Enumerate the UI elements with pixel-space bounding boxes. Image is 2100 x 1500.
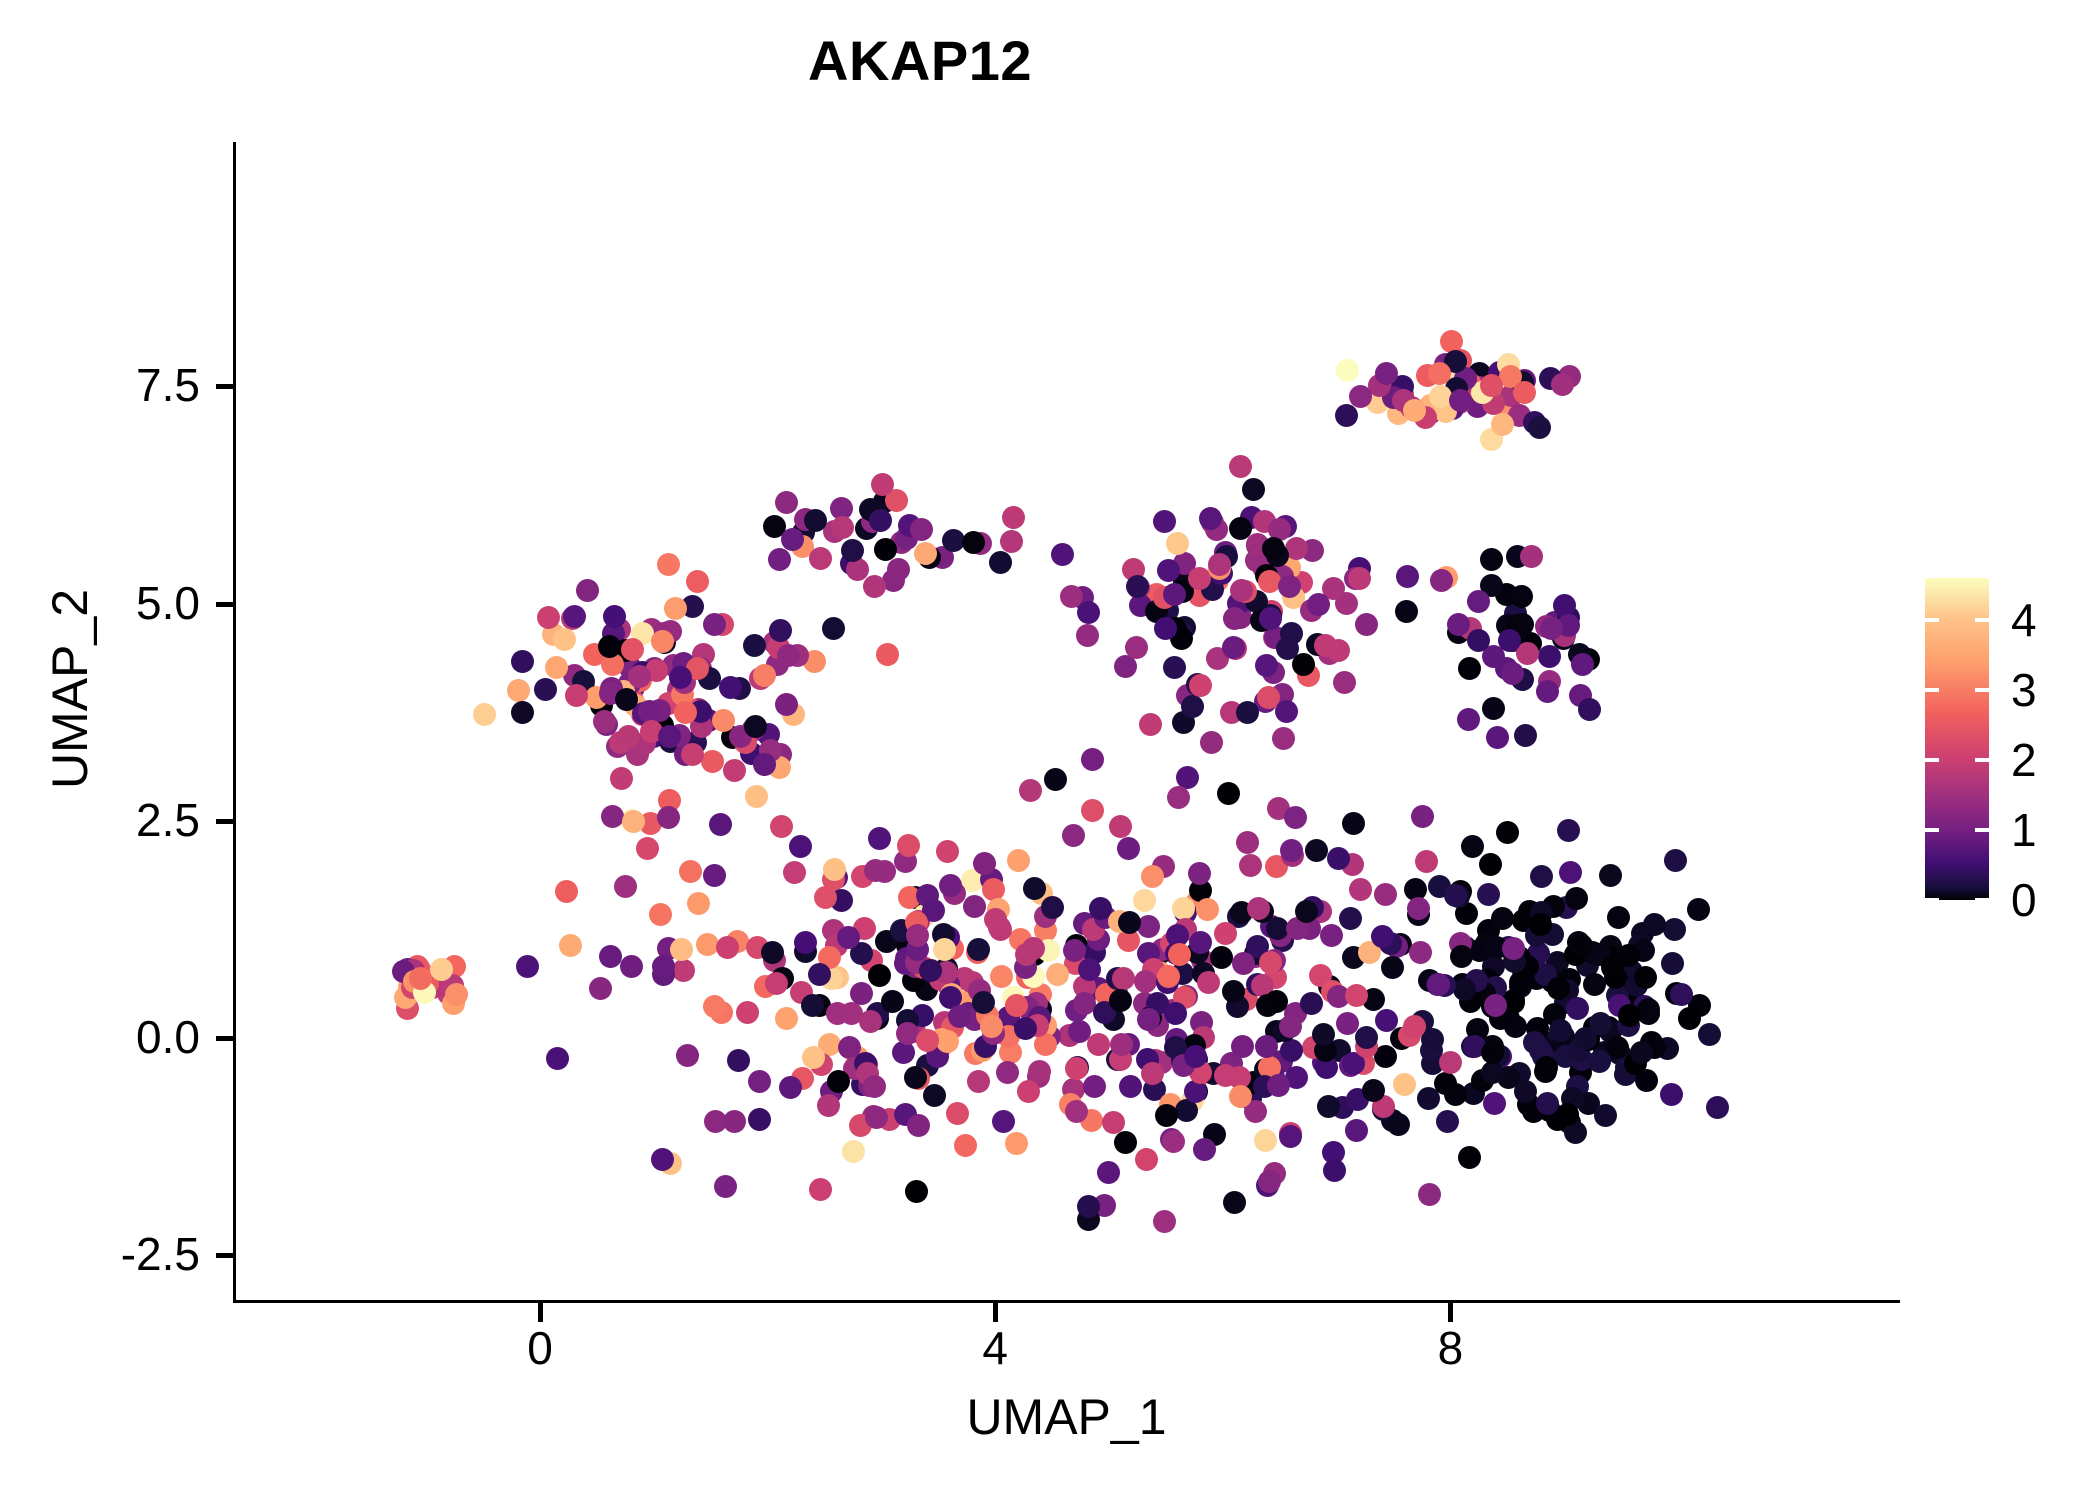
scatter-point [923,1084,946,1107]
scatter-point [1242,478,1265,501]
scatter-point [1687,898,1710,921]
scatter-point [1342,812,1365,835]
scatter-point [1339,907,1362,930]
scatter-point [1181,695,1204,718]
scatter-point [1417,1087,1440,1110]
scatter-point [1236,831,1259,854]
scatter-point [723,1110,746,1133]
scatter-point [1393,1073,1416,1096]
x-tick-label: 4 [935,1325,1055,1371]
scatter-point [1200,731,1223,754]
scatter-point [589,977,612,1000]
scatter-point [1439,1051,1462,1074]
scatter-point [876,643,899,666]
scatter-point [809,547,832,570]
scatter-point [1135,1148,1158,1171]
scatter-point [906,924,929,947]
scatter-point [1481,1041,1504,1064]
scatter-point [1063,939,1086,962]
scatter-point [1502,937,1525,960]
scatter-point [1538,645,1561,668]
scatter-point [1051,543,1074,566]
page-title: AKAP12 [0,28,1840,93]
scatter-point [1530,865,1553,888]
scatter-point [1060,585,1083,608]
scatter-point [1210,946,1233,969]
scatter-point [1453,978,1476,1001]
scatter-point [1125,636,1148,659]
scatter-point [1196,898,1219,921]
scatter-point [1167,786,1190,809]
scatter-point [1630,1041,1653,1064]
scatter-point [636,837,659,860]
scatter-point [1154,617,1177,640]
scatter-point [1279,1125,1302,1148]
scatter-point [1491,413,1514,436]
scatter-point [1133,889,1156,912]
scatter-point [1520,545,1543,568]
scatter-point [887,558,910,581]
scatter-point [1594,1104,1617,1127]
scatter-point [962,531,985,554]
scatter-point [1381,956,1404,979]
scatter-point [1501,662,1524,685]
scatter-point [1486,726,1509,749]
scatter-point [610,767,633,790]
scatter-point [1259,607,1282,630]
scatter-point [1110,1033,1133,1056]
scatter-point [1583,973,1606,996]
scatter-point [1467,590,1490,613]
scatter-point [863,1075,886,1098]
colorbar-tick-mark [1925,828,1939,832]
scatter-point [1540,617,1563,640]
scatter-point [546,1047,569,1070]
scatter-point [555,880,578,903]
scatter-point [1371,925,1394,948]
y-tick-mark [216,819,233,824]
colorbar-tick-label: 0 [2011,877,2037,923]
scatter-point [1007,849,1030,872]
colorbar-tick-mark [1975,758,1989,762]
scatter-point [1083,1075,1106,1098]
scatter-point [1236,701,1259,724]
scatter-point [948,1005,971,1028]
scatter-point [842,1140,865,1163]
scatter-point [1450,945,1473,968]
scatter-point [1571,653,1594,676]
scatter-point [1578,698,1601,721]
scatter-point [936,1030,959,1053]
scatter-point [954,1134,977,1157]
scatter-point [1428,362,1451,385]
scatter-point [1222,980,1245,1003]
colorbar-tick-mark [1925,898,1939,902]
scatter-point [1415,850,1438,873]
scatter-point [1664,849,1687,872]
scatter-point [615,688,638,711]
scatter-point [973,852,996,875]
scatter-point [1553,594,1576,617]
y-tick-label: -2.5 [40,1231,200,1277]
scatter-point [1117,837,1140,860]
scatter-point [1706,1096,1729,1119]
scatter-point [1323,1159,1346,1182]
scatter-point [745,785,768,808]
scatter-point [1023,877,1046,900]
scatter-point [1498,629,1521,652]
scatter-point [669,666,692,689]
scatter-point [719,676,742,699]
scatter-point [1411,805,1434,828]
scatter-point [559,934,582,957]
scatter-point [664,597,687,620]
scatter-point [511,701,534,724]
x-tick-mark [1448,1303,1453,1322]
scatter-point [576,579,599,602]
scatter-point [1660,1083,1683,1106]
scatter-point [1223,1191,1246,1214]
scatter-point [765,972,788,995]
scatter-point [1556,1103,1579,1126]
scatter-point [703,995,726,1018]
scatter-point [1041,896,1064,919]
scatter-point [770,815,793,838]
scatter-point [1193,1138,1216,1161]
scatter-point [1678,1007,1701,1030]
y-axis-title: UMAP_2 [41,369,99,1009]
scatter-point [869,509,892,532]
scatter-point [1163,656,1186,679]
scatter-point [1229,517,1252,540]
scatter-point [863,575,886,598]
scatter-point [897,834,920,857]
scatter-point [864,859,887,882]
scatter-point [701,750,724,773]
scatter-point [1109,989,1132,1012]
scatter-point [1247,897,1270,920]
scatter-point [1188,862,1211,885]
scatter-point [1044,768,1067,791]
scatter-point [1348,567,1371,590]
y-tick-mark [216,384,233,389]
scatter-point [563,605,586,628]
scatter-point [1230,579,1253,602]
scatter-point [703,613,726,636]
scatter-point [603,605,626,628]
scatter-point [1028,1060,1051,1083]
scatter-point [1267,1074,1290,1097]
scatter-point [565,684,588,707]
scatter-point [1019,779,1042,802]
scatter-point [430,958,453,981]
scatter-point [553,628,576,651]
colorbar-tick-label: 4 [2011,597,2037,643]
scatter-point [1467,629,1490,652]
scatter-point [657,553,680,576]
colorbar-tick-mark [1925,688,1939,692]
y-tick-mark [216,602,233,607]
scatter-point [779,1076,802,1099]
colorbar-tick-mark [1925,758,1939,762]
scatter-point [714,1175,737,1198]
scatter-point [1457,708,1480,731]
scatter-point [1214,922,1237,945]
colorbar-tick-label: 3 [2011,667,2037,713]
scatter-point [831,516,854,539]
scatter-point [1300,992,1323,1015]
scatter-point [1514,724,1537,747]
scatter-point [769,619,792,642]
scatter-point [1015,943,1038,966]
scatter-point [1461,835,1484,858]
scatter-point [1670,983,1693,1006]
colorbar-tick-mark [1975,618,1989,622]
scatter-point [1114,655,1137,678]
colorbar-tick-mark [1975,898,1989,902]
scatter-point [1284,806,1307,829]
colorbar-tick-mark [1975,828,1989,832]
y-tick-label: 0.0 [40,1014,200,1060]
scatter-point [1491,907,1514,930]
scatter-point [703,864,726,887]
scatter-point [1327,847,1350,870]
scatter-point [783,861,806,884]
scatter-point [1436,1110,1459,1133]
scatter-point [1126,575,1149,598]
scatter-point [670,938,693,961]
scatter-point [1292,653,1315,676]
scatter-point [775,693,798,716]
scatter-point [802,1046,825,1069]
scatter-point [1134,970,1157,993]
scatter-point [794,931,817,954]
scatter-point [1661,952,1684,975]
scatter-point [907,1114,930,1137]
scatter-point [1162,1130,1185,1153]
scatter-point [1314,634,1337,657]
scatter-point [868,827,891,850]
scatter-point [939,874,962,897]
scatter-point [789,835,812,858]
scatter-point [826,1002,849,1025]
scatter-point [753,664,776,687]
scatter-point [933,938,956,961]
scatter-point [1164,1002,1187,1025]
scatter-point [1141,865,1164,888]
scatter-point [1280,1039,1303,1062]
colorbar-tick-label: 2 [2011,737,2037,783]
scatter-point [1014,1017,1037,1040]
scatter-point [1599,864,1622,887]
y-tick-mark [216,1036,233,1041]
scatter-point [989,551,1012,574]
scatter-point [1698,1023,1721,1046]
scatter-point [1065,1100,1088,1123]
scatter-points-layer [236,142,1900,1300]
scatter-point [1189,674,1212,697]
scatter-point [1102,1111,1125,1134]
scatter-point [614,875,637,898]
scatter-point [1078,958,1101,981]
scatter-point [727,1049,750,1072]
scatter-point [687,892,710,915]
scatter-point [1566,997,1589,1020]
scatter-point [1076,624,1099,647]
scatter-point [827,1070,850,1093]
scatter-point [709,813,732,836]
scatter-point [1189,931,1212,954]
scatter-point [1513,381,1536,404]
x-tick-label: 8 [1390,1325,1510,1371]
scatter-point [1089,897,1112,920]
scatter-point [1565,887,1588,910]
scatter-point [652,955,675,978]
scatter-point [1458,1146,1481,1169]
scatter-point [621,638,644,661]
scatter-point [1374,883,1397,906]
scatter-point [676,1044,699,1067]
scatter-point [473,703,496,726]
scatter-point [1355,613,1378,636]
scatter-point [1239,854,1262,877]
scatter-point [681,743,704,766]
scatter-point [534,678,557,701]
scatter-point [1375,1009,1398,1032]
scatter-point [1081,748,1104,771]
scatter-point [1258,1170,1281,1193]
scatter-point [1551,373,1574,396]
scatter-point [1077,601,1100,624]
scatter-point [823,858,846,881]
scatter-point [649,903,672,926]
scatter-point [674,701,697,724]
scatter-point [992,1110,1015,1133]
scatter-point [1139,713,1162,736]
x-tick-label: 0 [480,1325,600,1371]
scatter-point [850,982,873,1005]
scatter-point [1229,455,1252,478]
scatter-point [972,991,995,1014]
scatter-point [748,1070,771,1093]
scatter-point [1307,593,1330,616]
scatter-point [1118,911,1141,934]
scatter-point [809,1178,832,1201]
scatter-point [1109,815,1132,838]
scatter-point [775,491,798,514]
scatter-point [1458,657,1481,680]
scatter-point [1529,913,1552,936]
scatter-point [716,936,739,959]
scatter-point [1002,506,1025,529]
scatter-point [761,941,784,964]
scatter-point [910,518,933,541]
scatter-point [1278,575,1301,598]
scatter-point [1295,900,1318,923]
scatter-point [777,644,800,667]
scatter-point [1232,952,1255,975]
scatter-point [822,617,845,640]
scatter-point [1166,532,1189,555]
scatter-point [1345,984,1368,1007]
scatter-point [1153,510,1176,533]
x-tick-mark [993,1303,998,1322]
scatter-point [1265,990,1288,1013]
scatter-point [1255,1035,1278,1058]
scatter-point [1062,824,1085,847]
scatter-point [817,1094,840,1117]
scatter-point [1005,994,1028,1017]
x-axis-title: UMAP_1 [233,1388,1900,1446]
scatter-point [657,806,680,829]
scatter-point [1223,607,1246,630]
scatter-point [874,538,897,561]
scatter-point [1607,906,1630,929]
y-tick-mark [216,1253,233,1258]
scatter-point [1017,1080,1040,1103]
scatter-point [1496,821,1519,844]
scatter-point [775,1007,798,1030]
scatter-point [1336,359,1359,382]
scatter-point [1483,1092,1506,1115]
scatter-point [537,606,560,629]
scatter-point [507,679,530,702]
scatter-point [1163,583,1186,606]
colorbar-tick-label: 1 [2011,807,2037,853]
scatter-point [1663,918,1686,941]
scatter-point [1375,362,1398,385]
umap-feature-plot: AKAP12 7.55.02.50.0-2.5 048 UMAP_1 UMAP_… [0,0,2100,1500]
scatter-point [1081,799,1104,822]
scatter-point [1153,1210,1176,1233]
scatter-point [622,810,645,833]
scatter-point [1557,819,1580,842]
scatter-point [919,959,942,982]
scatter-point [1272,727,1295,750]
scatter-point [1087,1033,1110,1056]
scatter-point [1449,389,1472,412]
scatter-point [1430,569,1453,592]
scatter-point [967,1070,990,1093]
colorbar-legend: 01234 [1925,578,2085,900]
scatter-point [1588,1050,1611,1073]
scatter-point [1480,548,1503,571]
scatter-point [1077,1195,1100,1218]
scatter-point [914,542,937,565]
scatter-point [1559,861,1582,884]
scatter-point [409,967,432,990]
scatter-point [516,955,539,978]
scatter-point [599,945,622,968]
scatter-point [1275,700,1298,723]
colorbar-tick-mark [1925,618,1939,622]
scatter-point [1065,1057,1088,1080]
scatter-point [1172,897,1195,920]
scatter-point [1005,1132,1028,1155]
scatter-point [1635,1069,1658,1092]
scatter-point [1510,585,1533,608]
scatter-point [1046,963,1069,986]
scatter-point [1217,782,1240,805]
scatter-point [904,1066,927,1089]
scatter-point [686,570,709,593]
scatter-point [1447,613,1470,636]
colorbar-tick-mark [1975,688,1989,692]
scatter-point [1254,1129,1277,1152]
scatter-point [658,725,681,748]
scatter-point [1418,1183,1441,1206]
scatter-point [980,1015,1003,1038]
